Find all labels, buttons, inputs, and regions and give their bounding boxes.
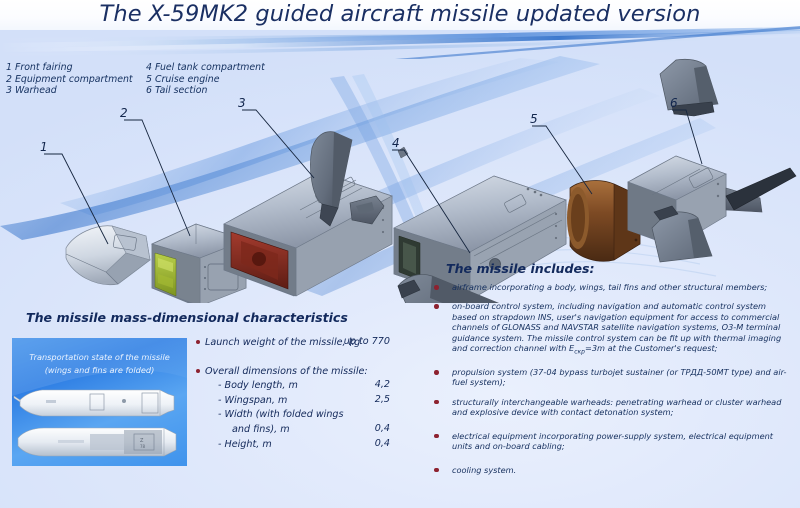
mass-section-heading: The missile mass-dimensional characteris… xyxy=(26,310,348,325)
spec-row-width-folded: - Width (with folded wings xyxy=(196,408,388,423)
part-warhead xyxy=(224,172,392,296)
bullet-icon xyxy=(434,434,439,439)
poster: The X-59MK2 guided aircraft missile upda… xyxy=(0,0,800,508)
part-front-fairing xyxy=(66,226,150,285)
includes-list: airframe incorporating a body, wings, ta… xyxy=(428,282,788,484)
callout-5: 5 xyxy=(530,112,538,126)
transportation-state-inset: Z 78 Transportation state of the missile… xyxy=(12,338,187,466)
callout-2: 2 xyxy=(120,106,128,120)
inset-caption-line1: Transportation state of the missile xyxy=(12,352,187,362)
includes-item-text: electrical equipment incorporating power… xyxy=(452,431,773,451)
bullet-icon xyxy=(196,340,200,344)
includes-item-text: cooling system. xyxy=(452,465,516,475)
callout-3: 3 xyxy=(238,96,246,110)
includes-item: structurally interchangeable warheads: p… xyxy=(428,397,788,418)
callout-4: 4 xyxy=(392,136,400,150)
svg-text:78: 78 xyxy=(140,444,146,449)
includes-item: propulsion system (37-04 bypass turbojet… xyxy=(428,367,788,388)
includes-item: cooling system. xyxy=(428,465,788,475)
spec-value-height: 0,4 xyxy=(318,438,390,449)
includes-section-heading: The missile includes: xyxy=(446,261,595,276)
includes-item-text: propulsion system (37-04 bypass turbojet… xyxy=(452,367,786,387)
bullet-icon xyxy=(434,400,439,405)
bullet-icon xyxy=(434,304,439,309)
part-tail-fin-upper xyxy=(660,59,718,116)
bullet-icon xyxy=(434,468,439,473)
includes-item: on-board control system, including navig… xyxy=(428,301,788,358)
inset-missile-bottom: Z 78 xyxy=(18,428,176,456)
spec-value-body-length: 4,2 xyxy=(318,379,390,390)
page-title: The X-59MK2 guided aircraft missile upda… xyxy=(0,1,800,27)
spec-value-width-folded: 0,4 xyxy=(318,423,390,434)
includes-item-text: airframe incorporating a body, wings, ta… xyxy=(452,282,767,292)
diagram-svg xyxy=(0,48,800,303)
bullet-icon xyxy=(196,369,200,373)
exploded-missile-diagram: 1 2 3 4 5 6 xyxy=(0,48,800,303)
includes-item: airframe incorporating a body, wings, ta… xyxy=(428,282,788,292)
spec-label: - Width (with folded wings xyxy=(218,409,344,420)
spec-label: Overall dimensions of the missile: xyxy=(205,366,368,377)
spec-value-wingspan: 2,5 xyxy=(318,394,390,405)
spec-label: - Wingspan, m xyxy=(218,395,287,406)
spec-label: and fins), m xyxy=(232,424,290,435)
bullet-icon xyxy=(434,370,439,375)
spec-label: - Body length, m xyxy=(218,380,298,391)
spec-value-launch-weight: up to 770 xyxy=(318,336,390,347)
includes-item-text: on-board control system, including navig… xyxy=(452,301,781,353)
inset-missile-top xyxy=(14,390,174,416)
spec-label: - Height, m xyxy=(218,439,272,450)
callout-1: 1 xyxy=(40,140,48,154)
includes-item: electrical equipment incorporating power… xyxy=(428,431,788,452)
spec-row-overall-dimensions: Overall dimensions of the missile: xyxy=(196,365,388,380)
callout-6: 6 xyxy=(670,96,678,110)
inset-caption-line2: (wings and fins are folded) xyxy=(12,365,187,375)
includes-item-text: structurally interchangeable warheads: p… xyxy=(452,397,781,417)
bullet-icon xyxy=(434,285,439,290)
